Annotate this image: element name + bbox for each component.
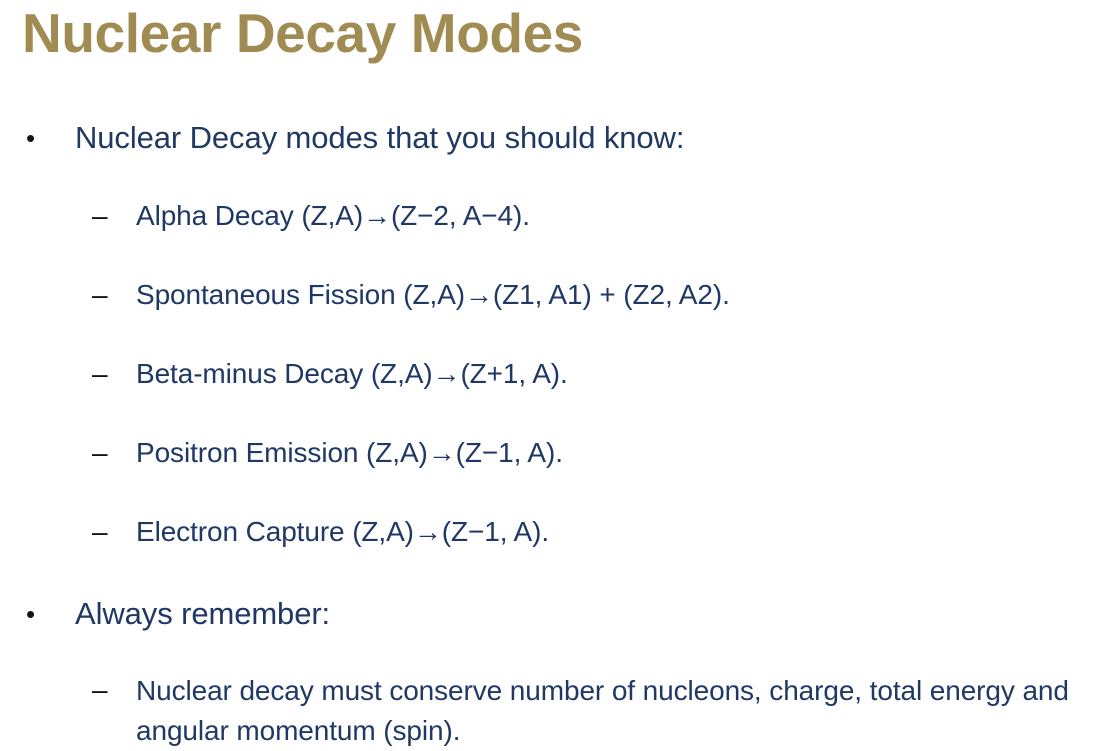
list-item: – Nuclear decay must conserve number of … (0, 671, 1118, 751)
list-item: • Nuclear Decay modes that you should kn… (0, 118, 1118, 174)
list-item: – Spontaneous Fission (Z,A)→(Z1, A1) + (… (0, 276, 1118, 326)
bullet-dot-icon: • (26, 118, 48, 158)
slide: Nuclear Decay Modes • Nuclear Decay mode… (0, 0, 1118, 663)
dash-icon: – (92, 276, 118, 314)
list-item: – Electron Capture (Z,A)→(Z−1, A). (0, 513, 1118, 563)
list-item-label: Beta-minus Decay (Z,A)→(Z+1, A). (136, 355, 1118, 393)
dash-icon: – (92, 197, 118, 235)
list-item-label: Spontaneous Fission (Z,A)→(Z1, A1) + (Z2… (136, 276, 1118, 314)
list-item-label: Alpha Decay (Z,A)→(Z−2, A−4). (136, 197, 1118, 235)
list-item-label: Positron Emission (Z,A)→(Z−1, A). (136, 434, 1118, 472)
dash-icon: – (92, 434, 118, 472)
list-item-label: Nuclear Decay modes that you should know… (75, 118, 1118, 158)
list-item-label: Electron Capture (Z,A)→(Z−1, A). (136, 513, 1118, 551)
page-title: Nuclear Decay Modes (22, 2, 583, 64)
list-item: – Positron Emission (Z,A)→(Z−1, A). (0, 434, 1118, 484)
slide-body: • Nuclear Decay modes that you should kn… (0, 118, 1118, 751)
bullet-dot-icon: • (26, 594, 48, 634)
dash-icon: – (92, 355, 118, 393)
list-item: – Alpha Decay (Z,A)→(Z−2, A−4). (0, 197, 1118, 247)
dash-icon: – (92, 513, 118, 551)
list-item: • Always remember: (0, 594, 1118, 650)
list-item-label: Always remember: (75, 594, 1118, 634)
list-item-label: Nuclear decay must conserve number of nu… (136, 671, 1118, 751)
list-item: – Beta-minus Decay (Z,A)→(Z+1, A). (0, 355, 1118, 405)
dash-icon: – (92, 671, 118, 709)
